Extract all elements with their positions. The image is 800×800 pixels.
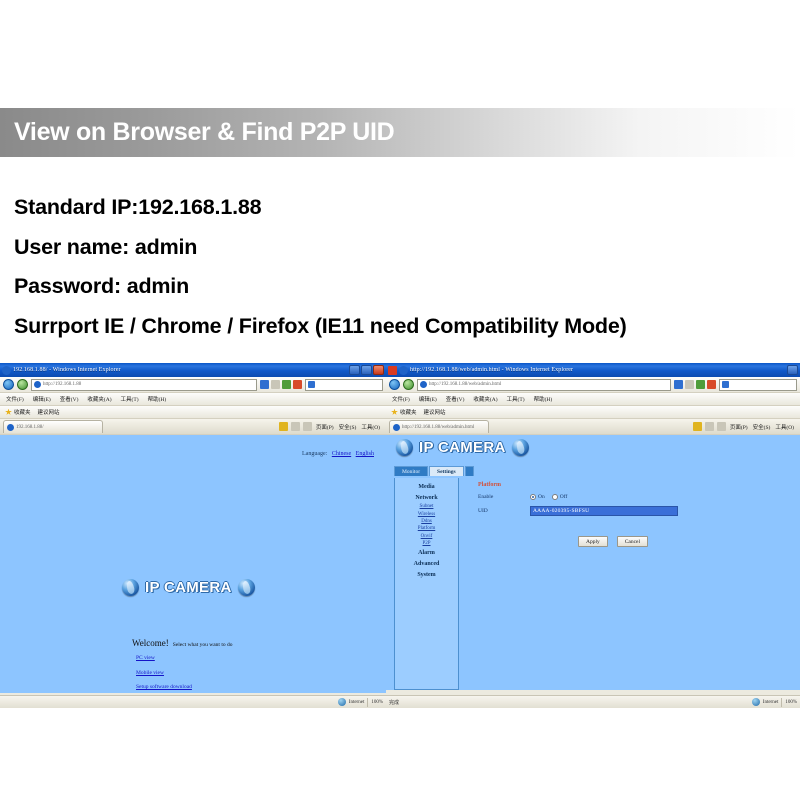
- sidebar-item-p2p[interactable]: P2P: [395, 540, 458, 547]
- left-tab-label: 192.168.1.88/: [16, 425, 44, 430]
- uid-label: UID: [478, 508, 530, 514]
- tab-favicon-icon-right: [393, 424, 400, 431]
- sidebar-item-alarm[interactable]: Alarm: [395, 547, 458, 558]
- suggested-sites-button-right[interactable]: 建议网站: [422, 408, 448, 416]
- ie-logo-icon-right: [399, 366, 408, 375]
- stop-icon[interactable]: [271, 380, 280, 389]
- home-icon-right[interactable]: [693, 422, 702, 431]
- right-address-input[interactable]: http://192.168.1.88/web/admin.html: [417, 379, 671, 391]
- left-address-bar: http://192.168.1.88: [0, 377, 386, 393]
- left-security-zone: Internet 100%: [338, 698, 383, 707]
- right-page-viewport: IP CAMERA Monitor Settings . Media Netwo…: [386, 435, 800, 690]
- close-page-icon-right[interactable]: [707, 380, 716, 389]
- right-tab-label: http://192.168.1.88/web/admin.html: [402, 425, 474, 430]
- left-titlebar: 192.168.1.88/ - Windows Internet Explore…: [0, 363, 386, 377]
- left-titlebar-text: 192.168.1.88/ - Windows Internet Explore…: [13, 367, 121, 373]
- right-addressbar-buttons: [674, 380, 716, 389]
- right-toolbar-right: 页面(P) 安全(S) 工具(O): [693, 422, 797, 431]
- menu-item-tools[interactable]: 工具(T): [118, 395, 142, 403]
- ie-logo-icon: [2, 366, 11, 375]
- menu-item-help-right[interactable]: 帮助(H): [531, 395, 556, 403]
- tab-settings[interactable]: Settings: [429, 466, 464, 476]
- menu-item-file-right[interactable]: 文件(F): [389, 395, 413, 403]
- stop-icon-right[interactable]: [685, 380, 694, 389]
- internet-zone-icon: [338, 698, 346, 706]
- compatibility-view-icon[interactable]: [260, 380, 269, 389]
- menu-item-favorites-right[interactable]: 收藏夹(A): [470, 395, 500, 403]
- uid-input[interactable]: AAAA-020395-SBFSU: [530, 506, 678, 516]
- right-status-done: 完成: [389, 699, 399, 706]
- star-icon: [5, 409, 12, 416]
- page-icon: [34, 381, 41, 388]
- right-logo-text: IP CAMERA: [419, 439, 506, 456]
- left-camera-welcome-page: Language: Chinese English IP CAMERA Welc…: [0, 435, 386, 693]
- info-line-password: Password: admin: [14, 267, 794, 307]
- radio-off-label: Off: [560, 494, 568, 500]
- page-icon-right: [420, 381, 427, 388]
- right-zoom-level[interactable]: 100%: [785, 700, 797, 705]
- favorites-button-right[interactable]: 收藏夹: [389, 408, 419, 416]
- enable-radio-group: On Off: [530, 494, 567, 500]
- sidebar-item-network[interactable]: Network: [395, 492, 458, 503]
- left-tab-bar: 192.168.1.88/ 页面(P) 安全(S) 工具(O): [0, 419, 386, 435]
- left-browser-tab[interactable]: 192.168.1.88/: [3, 420, 103, 433]
- right-browser-tab[interactable]: http://192.168.1.88/web/admin.html: [389, 420, 489, 433]
- language-link-english[interactable]: English: [356, 451, 374, 457]
- tab-monitor[interactable]: Monitor: [394, 466, 428, 476]
- right-browser-window: http://192.168.1.88/web/admin.html - Win…: [386, 363, 800, 708]
- menu-item-edit-right[interactable]: 编辑(E): [416, 395, 440, 403]
- sidebar-item-ddns[interactable]: Ddns: [395, 518, 458, 525]
- menu-item-view-right[interactable]: 查看(V): [443, 395, 468, 403]
- right-tab-bar: http://192.168.1.88/web/admin.html 页面(P)…: [386, 419, 800, 435]
- cancel-button[interactable]: Cancel: [617, 536, 648, 547]
- minimize-button[interactable]: [349, 365, 360, 375]
- radio-on-label: On: [538, 494, 545, 500]
- welcome-subtext: Select what you want to do: [173, 642, 233, 648]
- right-window-controls: [787, 365, 798, 375]
- suggested-sites-label-right: 建议网站: [424, 408, 446, 416]
- feeds-icon-right[interactable]: [705, 422, 714, 431]
- left-browser-window: 192.168.1.88/ - Windows Internet Explore…: [0, 363, 386, 708]
- favorites-label: 收藏夹: [14, 408, 31, 416]
- forward-button-icon[interactable]: [17, 379, 28, 390]
- uid-row: UID AAAA-020395-SBFSU: [466, 506, 794, 516]
- page-banner: View on Browser & Find P2P UID: [0, 108, 800, 157]
- left-addressbar-buttons: [260, 380, 302, 389]
- radio-option-on[interactable]: On: [530, 494, 545, 500]
- toolbar-tools-menu-right[interactable]: 工具(O): [774, 423, 795, 431]
- back-button-icon-right[interactable]: [389, 379, 400, 390]
- home-icon[interactable]: [279, 422, 288, 431]
- platform-settings-panel: Platform Enable On Off: [466, 478, 794, 690]
- welcome-links: PC view Mobile view Setup software downl…: [136, 655, 192, 693]
- radio-option-off[interactable]: Off: [552, 494, 568, 500]
- right-zone-label: Internet: [763, 700, 779, 705]
- language-link-chinese[interactable]: Chinese: [332, 451, 351, 457]
- status-divider-right: [781, 698, 782, 707]
- left-search-box[interactable]: [305, 379, 383, 391]
- info-line-username: User name: admin: [14, 228, 794, 268]
- left-address-input[interactable]: http://192.168.1.88: [31, 379, 257, 391]
- toolbar-page-menu[interactable]: 页面(P): [315, 423, 335, 431]
- banner-title: View on Browser & Find P2P UID: [0, 118, 394, 147]
- favorites-button[interactable]: 收藏夹: [3, 408, 33, 416]
- status-divider: [367, 698, 368, 707]
- info-line-ip: Standard IP:192.168.1.88: [14, 188, 794, 228]
- sidebar-item-onvif[interactable]: Onvif: [395, 533, 458, 540]
- sidebar-item-wireless[interactable]: Wireless: [395, 510, 458, 517]
- form-buttons: Apply Cancel: [466, 536, 794, 547]
- search-icon-right: [722, 381, 729, 388]
- tab-favicon-icon: [7, 424, 14, 431]
- left-zoom-level[interactable]: 100%: [371, 700, 383, 705]
- left-zone-label: Internet: [349, 700, 365, 705]
- globe-icon-left: [122, 579, 139, 596]
- right-menu-bar: 文件(F) 编辑(E) 查看(V) 收藏夹(A) 工具(T) 帮助(H): [386, 393, 800, 406]
- sidebar-item-advanced[interactable]: Advanced: [395, 558, 458, 569]
- apply-button[interactable]: Apply: [578, 536, 608, 547]
- link-setup-software-download[interactable]: Setup software download: [136, 684, 192, 690]
- sidebar-item-media[interactable]: Media: [395, 481, 458, 492]
- tab-filler: .: [465, 466, 474, 476]
- right-titlebar: http://192.168.1.88/web/admin.html - Win…: [386, 363, 800, 377]
- right-security-zone: Internet 100%: [752, 698, 797, 707]
- menu-item-view[interactable]: 查看(V): [57, 395, 82, 403]
- refresh-icon-right[interactable]: [696, 380, 705, 389]
- left-window-controls: [349, 365, 384, 375]
- feeds-icon[interactable]: [291, 422, 300, 431]
- toolbar-safety-menu-right[interactable]: 安全(S): [752, 423, 772, 431]
- left-menu-bar: 文件(F) 编辑(E) 查看(V) 收藏夹(A) 工具(T) 帮助(H): [0, 393, 386, 406]
- favorites-label-right: 收藏夹: [400, 408, 417, 416]
- globe-icon-right: [238, 579, 255, 596]
- right-ip-camera-logo: IP CAMERA: [386, 435, 800, 458]
- sidebar-item-system[interactable]: System: [395, 569, 458, 580]
- sidebar-item-subnet[interactable]: Subnet: [395, 503, 458, 510]
- left-favorites-bar: 收藏夹 建议网站: [0, 406, 386, 419]
- globe-icon-right-right-win: [512, 439, 529, 456]
- radio-on-icon[interactable]: [530, 494, 536, 500]
- link-mobile-view[interactable]: Mobile view: [136, 670, 192, 676]
- radio-off-icon[interactable]: [552, 494, 558, 500]
- left-toolbar-right: 页面(P) 安全(S) 工具(O): [279, 422, 383, 431]
- left-ip-camera-logo: IP CAMERA: [112, 575, 255, 598]
- print-icon[interactable]: [303, 422, 312, 431]
- left-status-bar: Internet 100%: [0, 695, 386, 708]
- right-status-bar: 完成 Internet 100%: [386, 695, 800, 708]
- left-logo-text: IP CAMERA: [145, 579, 232, 596]
- left-page-viewport: Language: Chinese English IP CAMERA Welc…: [0, 435, 386, 693]
- minimize-button-right[interactable]: [787, 365, 798, 375]
- enable-label: Enable: [478, 494, 530, 500]
- internet-zone-icon-right: [752, 698, 760, 706]
- link-pc-view[interactable]: PC view: [136, 655, 192, 661]
- close-page-icon[interactable]: [293, 380, 302, 389]
- refresh-icon[interactable]: [282, 380, 291, 389]
- suggested-sites-label: 建议网站: [38, 408, 60, 416]
- globe-icon-left-right-win: [396, 439, 413, 456]
- maximize-button[interactable]: [361, 365, 372, 375]
- forward-button-icon-right[interactable]: [403, 379, 414, 390]
- menu-item-help[interactable]: 帮助(H): [145, 395, 170, 403]
- right-address-bar: http://192.168.1.88/web/admin.html: [386, 377, 800, 393]
- menu-item-favorites[interactable]: 收藏夹(A): [84, 395, 114, 403]
- right-favorites-bar: 收藏夹 建议网站: [386, 406, 800, 419]
- camera-settings-sidebar: Media Network Subnet Wireless Ddns Platf…: [394, 478, 459, 690]
- search-icon: [308, 381, 315, 388]
- print-icon-right[interactable]: [717, 422, 726, 431]
- menu-item-file[interactable]: 文件(F): [3, 395, 27, 403]
- suggested-sites-button[interactable]: 建议网站: [36, 408, 62, 416]
- close-button[interactable]: [373, 365, 384, 375]
- compatibility-view-icon-right[interactable]: [674, 380, 683, 389]
- info-line-browsers: Surrport IE / Chrome / Firefox (IE11 nee…: [14, 307, 794, 347]
- window-app-icon: [388, 366, 397, 375]
- welcome-message: Welcome! Select what you want to do: [132, 633, 233, 651]
- right-search-box[interactable]: [719, 379, 797, 391]
- left-address-text: http://192.168.1.88: [43, 382, 81, 387]
- welcome-heading: Welcome!: [132, 638, 169, 648]
- camera-tabs: Monitor Settings .: [394, 466, 474, 476]
- language-label: Language:: [302, 451, 327, 457]
- menu-item-tools-right[interactable]: 工具(T): [504, 395, 528, 403]
- sidebar-item-platform[interactable]: Platform: [395, 525, 458, 532]
- toolbar-safety-menu[interactable]: 安全(S): [338, 423, 358, 431]
- right-address-text: http://192.168.1.88/web/admin.html: [429, 382, 501, 387]
- uid-value: AAAA-020395-SBFSU: [533, 508, 589, 514]
- toolbar-page-menu-right[interactable]: 页面(P): [729, 423, 749, 431]
- back-button-icon[interactable]: [3, 379, 14, 390]
- info-block: Standard IP:192.168.1.88 User name: admi…: [14, 188, 794, 346]
- browser-screenshots: 192.168.1.88/ - Windows Internet Explore…: [0, 363, 800, 708]
- camera-settings-page: IP CAMERA Monitor Settings . Media Netwo…: [386, 435, 800, 690]
- right-titlebar-text: http://192.168.1.88/web/admin.html - Win…: [410, 367, 573, 373]
- language-selector: Language: Chinese English: [302, 451, 374, 457]
- toolbar-tools-menu[interactable]: 工具(O): [360, 423, 381, 431]
- panel-title: Platform: [466, 478, 794, 488]
- menu-item-edit[interactable]: 编辑(E): [30, 395, 54, 403]
- star-icon-right: [391, 409, 398, 416]
- enable-row: Enable On Off: [466, 494, 794, 500]
